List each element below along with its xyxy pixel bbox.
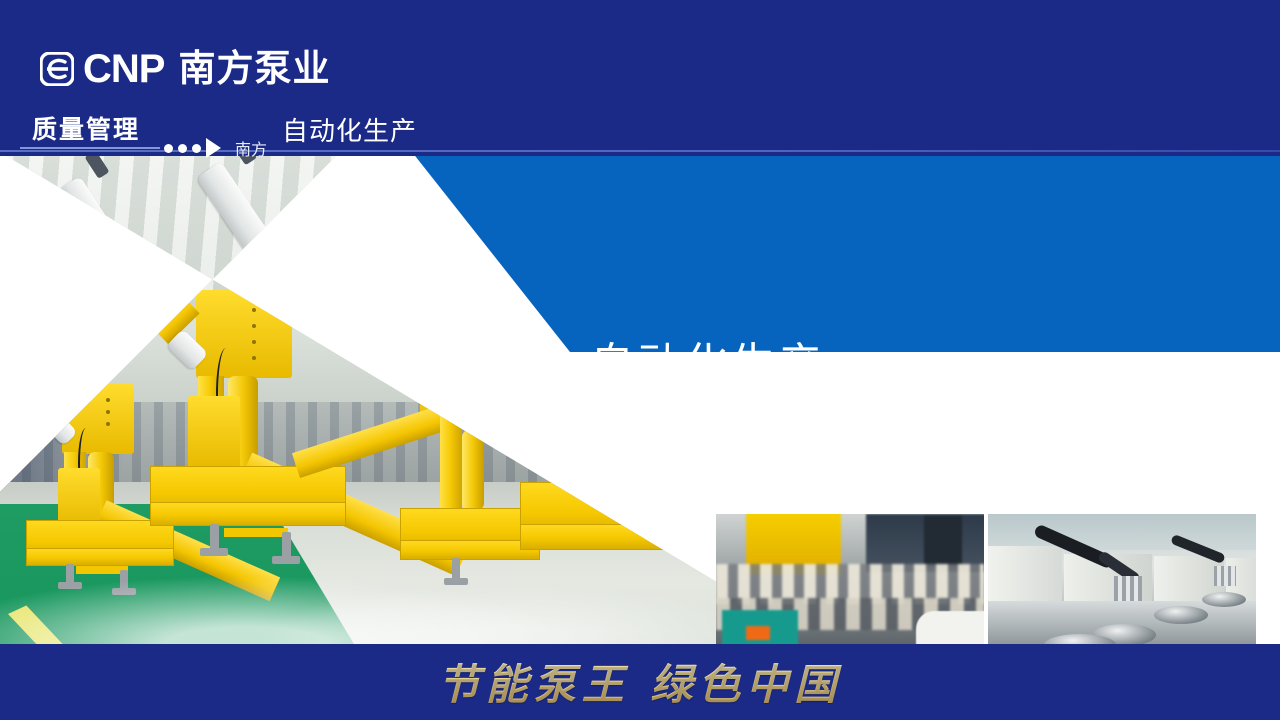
assembly-line-thumbnail <box>716 514 984 644</box>
factory-line-sign: 总装二线 <box>0 211 69 247</box>
panel-paragraph: 如今的南方泵业，将自动化技术覆盖到零部件加工生产、整泵装配 调试、出厂检验等诸多… <box>592 393 1012 468</box>
robotic-cnc-line-thumbnail <box>988 514 1256 644</box>
cnp-monogram-icon <box>40 52 74 86</box>
panel-paragraph-line-1: 如今的南方泵业，将自动化技术覆盖到零部件加工生产、整泵装配 <box>592 393 1012 418</box>
footer-slogan: 节能泵王 绿色中国 <box>0 645 1280 717</box>
factory-line-sign-text: 总装二线 <box>4 216 61 237</box>
logo-chinese-text: 南方泵业 <box>178 52 330 86</box>
panel-paragraph-line-3: 合到定制化的流水线作业，给客户带来科技制泵的服务体验。 <box>592 443 1012 468</box>
breadcrumb-label: 南方 <box>235 136 267 160</box>
page-title: 自动化生产 <box>282 111 417 148</box>
three-dots-icon <box>164 144 201 153</box>
logo-latin-text: CNP <box>83 52 164 86</box>
breadcrumb: 南方 <box>20 136 267 160</box>
slide-canvas: CNP 南方泵业 质量管理 南方 自动化生产 总装二线 <box>0 0 1280 720</box>
slide-body: 总装二线 <box>0 152 1280 644</box>
triangle-right-icon <box>206 138 221 158</box>
panel-paragraph-line-2: 调试、出厂检验等诸多环节，将多年的制泵工艺沉淀和技术革新结 <box>592 418 1012 443</box>
panel-heading: 自动化生产 <box>590 328 825 392</box>
breadcrumb-rule <box>20 147 160 149</box>
footer-slogan-text: 节能泵王 绿色中国 <box>438 651 843 712</box>
brand-logo[interactable]: CNP 南方泵业 <box>40 52 330 86</box>
